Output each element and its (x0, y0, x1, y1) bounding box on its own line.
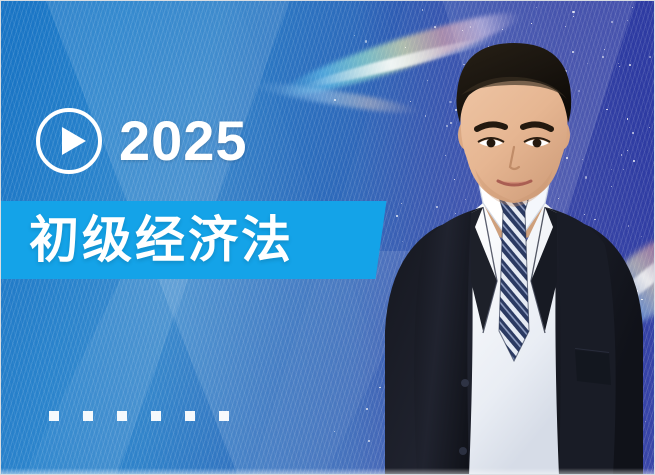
course-title: 初级经济法 (29, 201, 294, 279)
play-year-row[interactable]: 2025 (33, 105, 248, 177)
dot (49, 411, 59, 421)
star-particle (572, 11, 574, 13)
star-particle (434, 26, 436, 28)
year-label: 2025 (119, 113, 248, 169)
star-particle (365, 40, 367, 42)
dot (117, 411, 127, 421)
star-particle (354, 35, 355, 36)
dot (185, 411, 195, 421)
star-particle (368, 440, 370, 442)
bottom-edge-highlight (1, 468, 654, 474)
dot (219, 411, 229, 421)
star-particle (531, 23, 532, 24)
dot-row (49, 411, 229, 421)
star-particle (632, 7, 633, 8)
course-thumbnail[interactable]: 2025 初级经济法 (0, 0, 655, 475)
star-particle (649, 56, 651, 58)
star-particle (565, 26, 566, 27)
play-circle-icon[interactable] (33, 105, 105, 177)
star-particle (611, 21, 613, 23)
star-particle (470, 26, 471, 27)
star-particle (536, 7, 537, 8)
star-particle (422, 9, 424, 11)
star-particle (334, 431, 335, 432)
dot (151, 411, 161, 421)
dot (83, 411, 93, 421)
star-particle (366, 408, 368, 410)
star-particle (573, 16, 574, 17)
star-particle (334, 99, 336, 101)
star-particle (502, 29, 503, 30)
presenter-portrait (379, 31, 649, 475)
star-particle (627, 20, 628, 21)
